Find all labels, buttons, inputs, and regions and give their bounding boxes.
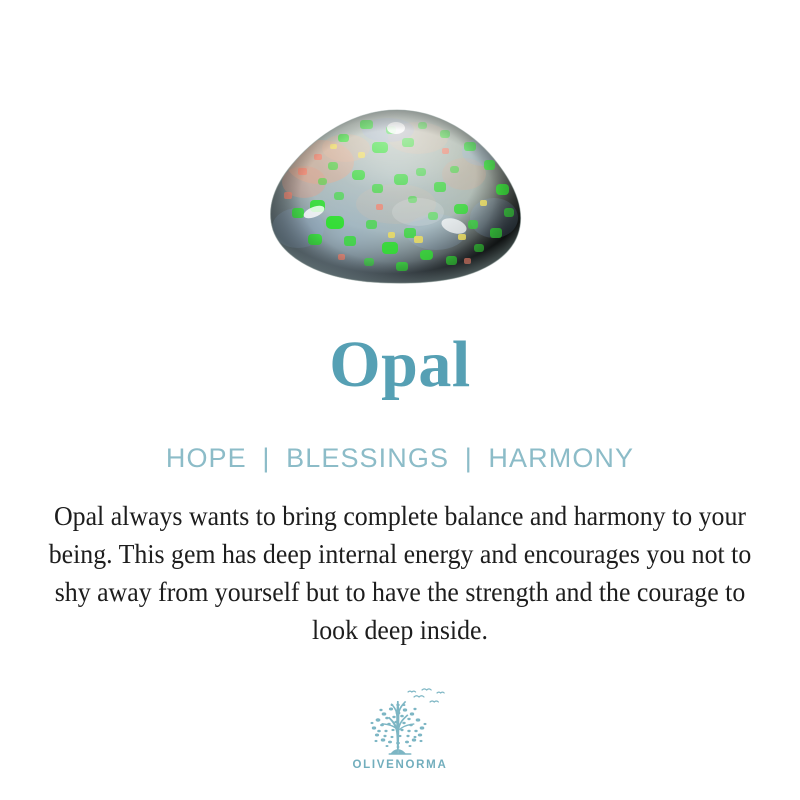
keyword-list: HOPE | BLESSINGS | HARMONY	[0, 443, 800, 474]
keyword-blessings: BLESSINGS	[286, 443, 449, 473]
gemstone-image	[268, 108, 526, 284]
keyword-separator: |	[255, 443, 277, 473]
keyword-hope: HOPE	[166, 443, 247, 473]
tree-of-life-icon	[354, 683, 446, 757]
brand-name: OLIVENORMA	[353, 759, 448, 771]
brand-logo: OLIVENORMA	[0, 683, 800, 771]
keyword-harmony: HARMONY	[488, 443, 634, 473]
opal-cabochon-icon	[268, 108, 526, 284]
gemstone-info-card: Opal HOPE | BLESSINGS | HARMONY Opal alw…	[0, 0, 800, 800]
page-title: Opal	[0, 332, 800, 398]
description-text: Opal always wants to bring complete bala…	[41, 497, 759, 649]
keyword-separator: |	[458, 443, 480, 473]
